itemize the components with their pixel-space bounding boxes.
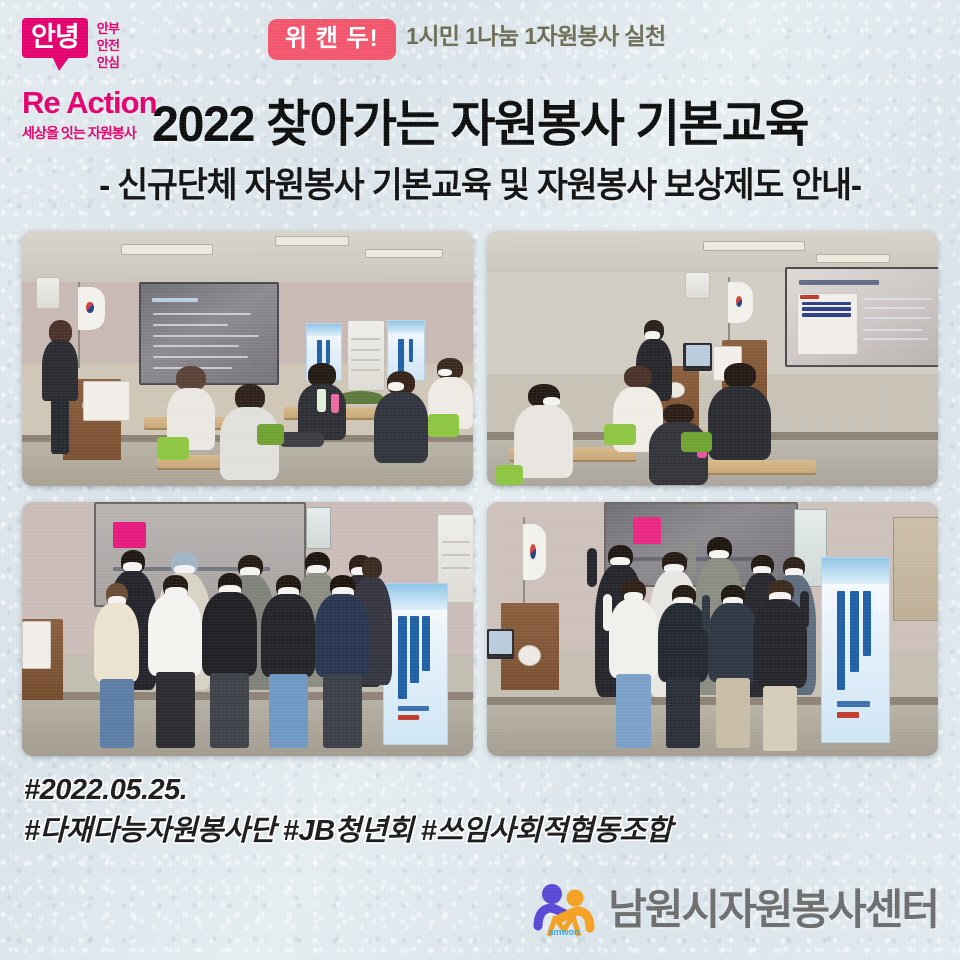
hashtag-organizations: #다재다능자원봉사단 #JB청년회 #쓰임사회적협동조합: [24, 811, 724, 852]
photo-grid: [22, 231, 938, 756]
bubble-tail-icon: [52, 56, 70, 71]
photo-lecture-presenter: [22, 231, 473, 486]
projection-screen: [785, 267, 938, 368]
speech-bubble-icon: 안녕: [22, 18, 88, 58]
hashtag-block: #2022.05.25. #다재다능자원봉사단 #JB청년회 #쓰임사회적협동조…: [24, 770, 724, 852]
keyword-3: 안심: [97, 54, 120, 71]
keyword-2: 안전: [97, 37, 120, 54]
namwon-center-logo: amwon 남원시자원봉사센터: [533, 882, 938, 938]
page-subtitle: - 신규단체 자원봉사 기본교육 및 자원봉사 보상제도 안내-: [19, 168, 941, 203]
we-can-do-badge: 위 캔 두!: [268, 19, 396, 60]
campaign-slogan: 1시민 1나눔 1자원봉사 실천: [406, 25, 666, 48]
roll-banner: [821, 557, 891, 742]
keyword-1: 안부: [97, 20, 120, 37]
center-name: 남원시자원봉사센터: [608, 889, 938, 931]
roll-banner: [383, 583, 448, 745]
svg-text:amwon: amwon: [549, 927, 580, 937]
photo-lecture-instructor: [487, 231, 938, 486]
hashtag-date: #2022.05.25.: [24, 770, 724, 811]
two-people-icon: amwon: [533, 882, 595, 938]
promo-card: 안녕 안부 안전 안심 Re Action 세상을 잇는 자원봉사 위 캔 두!…: [0, 0, 960, 960]
bubble-text: 안녕: [22, 18, 88, 58]
photo-group-2: [487, 502, 938, 757]
photo-group-1: [22, 502, 473, 757]
page-title: 2022 찾아가는 자원봉사 기본교육: [14, 99, 945, 149]
brand-keywords: 안부 안전 안심: [97, 18, 120, 71]
